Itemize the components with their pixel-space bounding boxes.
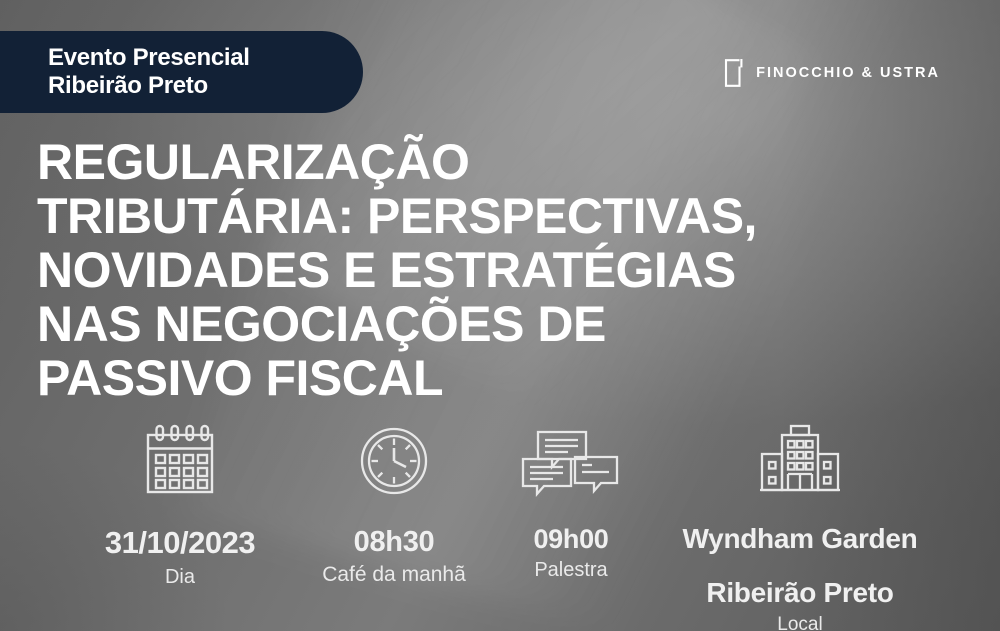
brand-wordmark: FINOCCHIO & USTRA <box>756 65 940 81</box>
title-line-3: NOVIDADES E ESTRATÉGIAS <box>37 243 867 297</box>
event-title: REGULARIZAÇÃO TRIBUTÁRIA: PERSPECTIVAS, … <box>37 135 867 405</box>
square-bracket-logo-icon <box>722 58 744 88</box>
detail-time-label: Café da manhã <box>322 562 466 587</box>
speech-bubbles-icon <box>519 426 623 503</box>
title-line-2: TRIBUTÁRIA: PERSPECTIVAS, <box>37 189 867 243</box>
event-banner: Evento Presencial Ribeirão Preto FINOCCH… <box>0 0 1000 631</box>
badge-line-2: Ribeirão Preto <box>48 72 363 100</box>
brand-logo: FINOCCHIO & USTRA <box>722 58 940 88</box>
building-icon <box>757 422 843 501</box>
detail-venue-value-line-1: Wyndham Garden <box>683 523 918 555</box>
title-line-1: REGULARIZAÇÃO <box>37 135 867 189</box>
detail-venue-label: Local <box>777 613 822 631</box>
detail-time-value: 08h30 <box>354 525 435 559</box>
title-line-4: NAS NEGOCIAÇÕES DE <box>37 297 867 351</box>
detail-talk: 09h00 Palestra <box>494 426 648 582</box>
event-details-row: 31/10/2023 Dia <box>0 416 1000 631</box>
detail-talk-value: 09h00 <box>533 523 608 555</box>
calendar-icon <box>136 422 224 503</box>
detail-venue: Wyndham Garden Ribeirão Preto Local <box>650 422 950 631</box>
title-line-5: PASSIVO FISCAL <box>37 351 867 405</box>
clock-icon <box>356 422 432 503</box>
event-type-badge: Evento Presencial Ribeirão Preto <box>0 31 363 113</box>
badge-line-1: Evento Presencial <box>48 44 363 72</box>
detail-date: 31/10/2023 Dia <box>40 422 320 589</box>
detail-date-label: Dia <box>165 565 195 589</box>
detail-date-value: 31/10/2023 <box>105 525 255 561</box>
detail-talk-label: Palestra <box>534 558 607 582</box>
detail-time: 08h30 Café da manhã <box>295 422 493 587</box>
detail-venue-value-line-2: Ribeirão Preto <box>706 577 893 609</box>
